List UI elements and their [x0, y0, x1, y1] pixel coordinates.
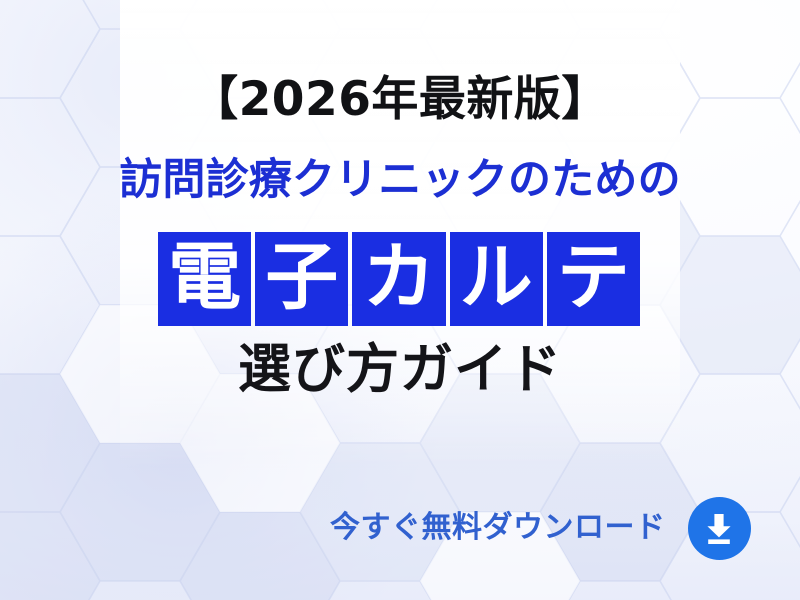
download-cta[interactable]: 今すぐ無料ダウンロード — [330, 490, 770, 566]
headline-text: 選び方ガイド — [0, 340, 800, 399]
highlight-box-5: テ — [547, 232, 640, 326]
download-icon[interactable] — [688, 497, 751, 560]
download-cta-label[interactable]: 今すぐ無料ダウンロード — [330, 513, 666, 543]
highlight-box-3: カ — [352, 232, 445, 326]
subtitle-text: 訪問診療クリニックのための — [0, 156, 800, 204]
highlight-boxes: 電 子 カ ル テ — [158, 232, 640, 326]
year-badge-text: 【2026年最新版】 — [0, 74, 800, 127]
poster-canvas: 【2026年最新版】 訪問診療クリニックのための 電 子 カ ル テ 選び方ガイ… — [0, 0, 800, 600]
highlight-box-1: 電 — [158, 232, 251, 326]
highlight-box-4: ル — [450, 232, 543, 326]
poster-content: 【2026年最新版】 訪問診療クリニックのための 電 子 カ ル テ 選び方ガイ… — [0, 0, 800, 600]
highlight-box-2: 子 — [255, 232, 348, 326]
